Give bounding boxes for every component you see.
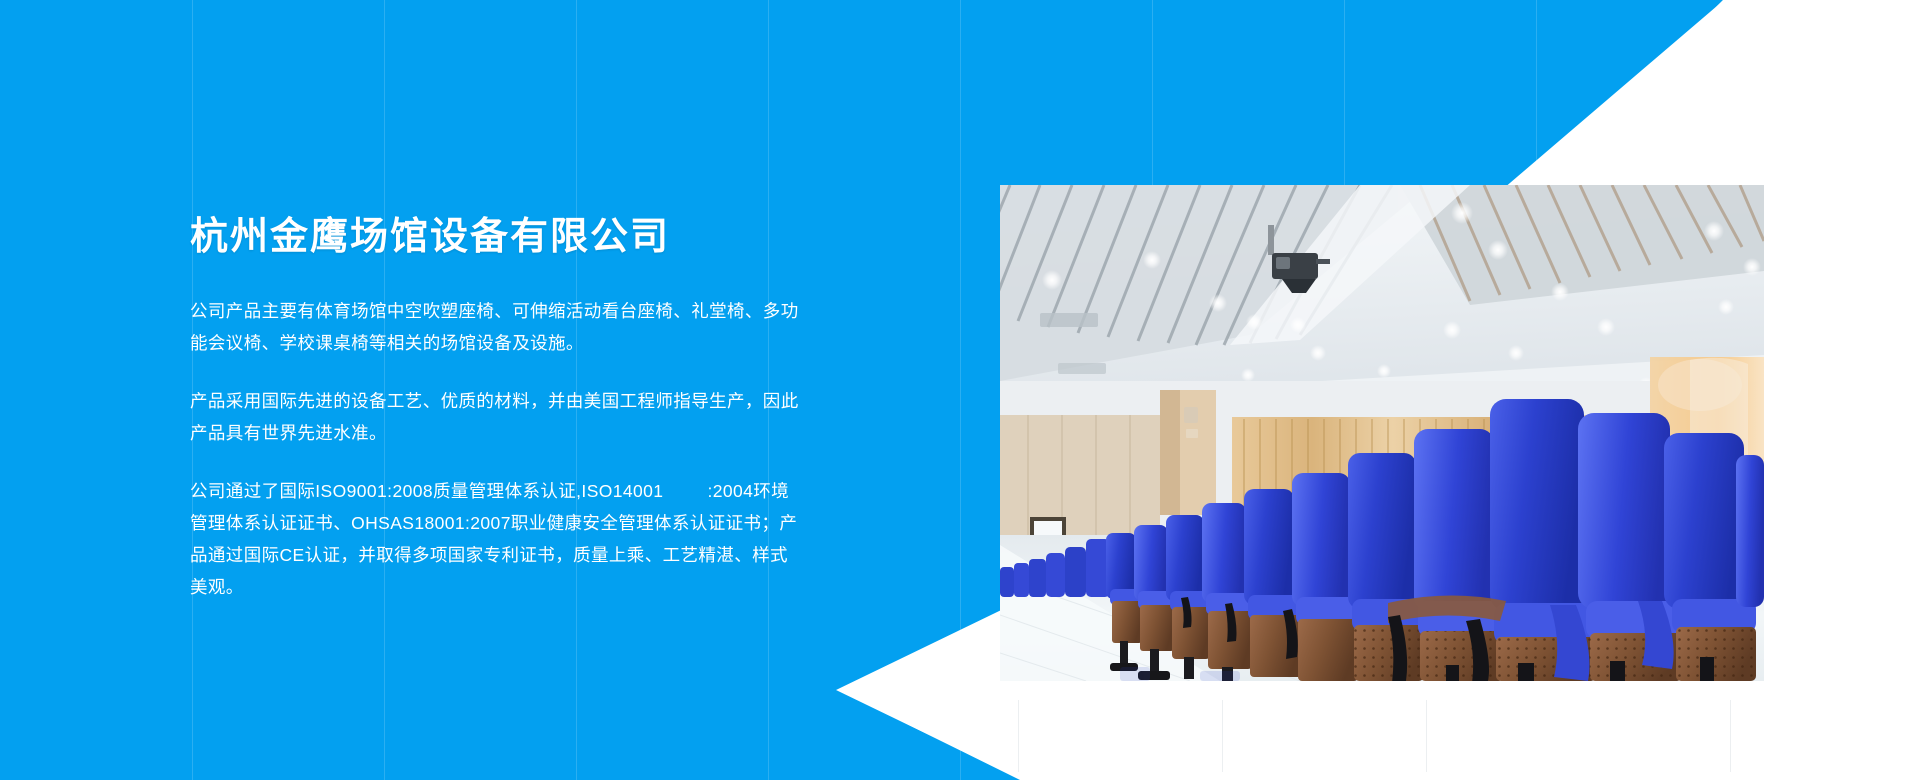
- hero-banner: 杭州金鹰场馆设备有限公司 公司产品主要有体育场馆中空吹塑座椅、可伸缩活动看台座椅…: [0, 0, 1920, 780]
- hero-paragraph-products: 公司产品主要有体育场馆中空吹塑座椅、可伸缩活动看台座椅、礼堂椅、多功能会议椅、学…: [190, 295, 800, 359]
- hero-paragraph-certifications: 公司通过了国际ISO9001:2008质量管理体系认证,ISO14001:200…: [190, 475, 800, 603]
- hero-paragraph-quality: 产品采用国际先进的设备工艺、优质的材料，并由美国工程师指导生产，因此产品具有世界…: [190, 385, 800, 449]
- auditorium-photo: [1000, 185, 1764, 681]
- certification-text-part-one: 公司通过了国际ISO9001:2008质量管理体系认证,ISO14001: [190, 481, 663, 501]
- auditorium-photo-illustration: [1000, 185, 1764, 681]
- page-title: 杭州金鹰场馆设备有限公司: [190, 215, 820, 261]
- hero-text-column: 杭州金鹰场馆设备有限公司 公司产品主要有体育场馆中空吹塑座椅、可伸缩活动看台座椅…: [190, 215, 820, 603]
